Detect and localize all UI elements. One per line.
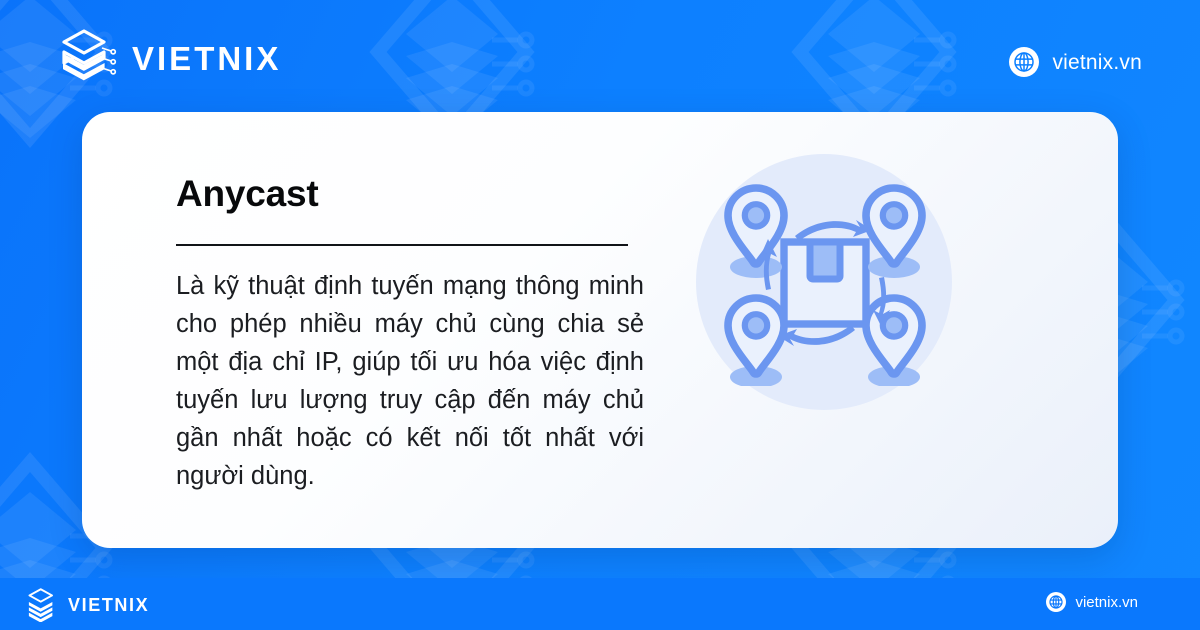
- footer-brand[interactable]: VIETNIX: [26, 587, 149, 622]
- globe-icon: [1009, 47, 1039, 77]
- card-illustration-column: [682, 112, 1118, 548]
- header-bar: VIETNIX vietnix.vn: [0, 0, 1200, 112]
- card-text-column: Anycast Là kỹ thuật định tuyến mạng thôn…: [82, 112, 682, 548]
- package-box-icon: [784, 242, 866, 324]
- title-divider: [176, 244, 628, 246]
- footer-bar: VIETNIX vietnix.vn: [0, 578, 1200, 630]
- globe-icon: [1046, 592, 1066, 612]
- footer-website-link[interactable]: vietnix.vn: [1046, 592, 1138, 612]
- content-card: Anycast Là kỹ thuật định tuyến mạng thôn…: [82, 112, 1118, 548]
- infographic-canvas: VIETNIX vietnix.vn Anycast: [0, 0, 1200, 630]
- curved-arrow-icon: [778, 325, 855, 346]
- stacked-layers-icon: [58, 27, 118, 89]
- card-description: Là kỹ thuật định tuyến mạng thông minh c…: [176, 268, 644, 496]
- anycast-routing-illustration: [722, 180, 928, 386]
- location-pin-icon: [728, 188, 784, 278]
- page-title: Anycast: [176, 174, 682, 215]
- curved-arrow-icon: [795, 220, 872, 241]
- location-pin-icon: [728, 298, 784, 386]
- footer-brand-wordmark: VIETNIX: [68, 596, 149, 614]
- brand-wordmark: VIETNIX: [132, 42, 281, 75]
- header-website-link[interactable]: vietnix.vn: [1009, 47, 1142, 77]
- location-pin-icon: [866, 188, 922, 278]
- header-website-url: vietnix.vn: [1052, 52, 1142, 73]
- header-brand[interactable]: VIETNIX: [58, 27, 281, 89]
- footer-website-url: vietnix.vn: [1075, 595, 1138, 610]
- stacked-layers-icon: [26, 587, 60, 622]
